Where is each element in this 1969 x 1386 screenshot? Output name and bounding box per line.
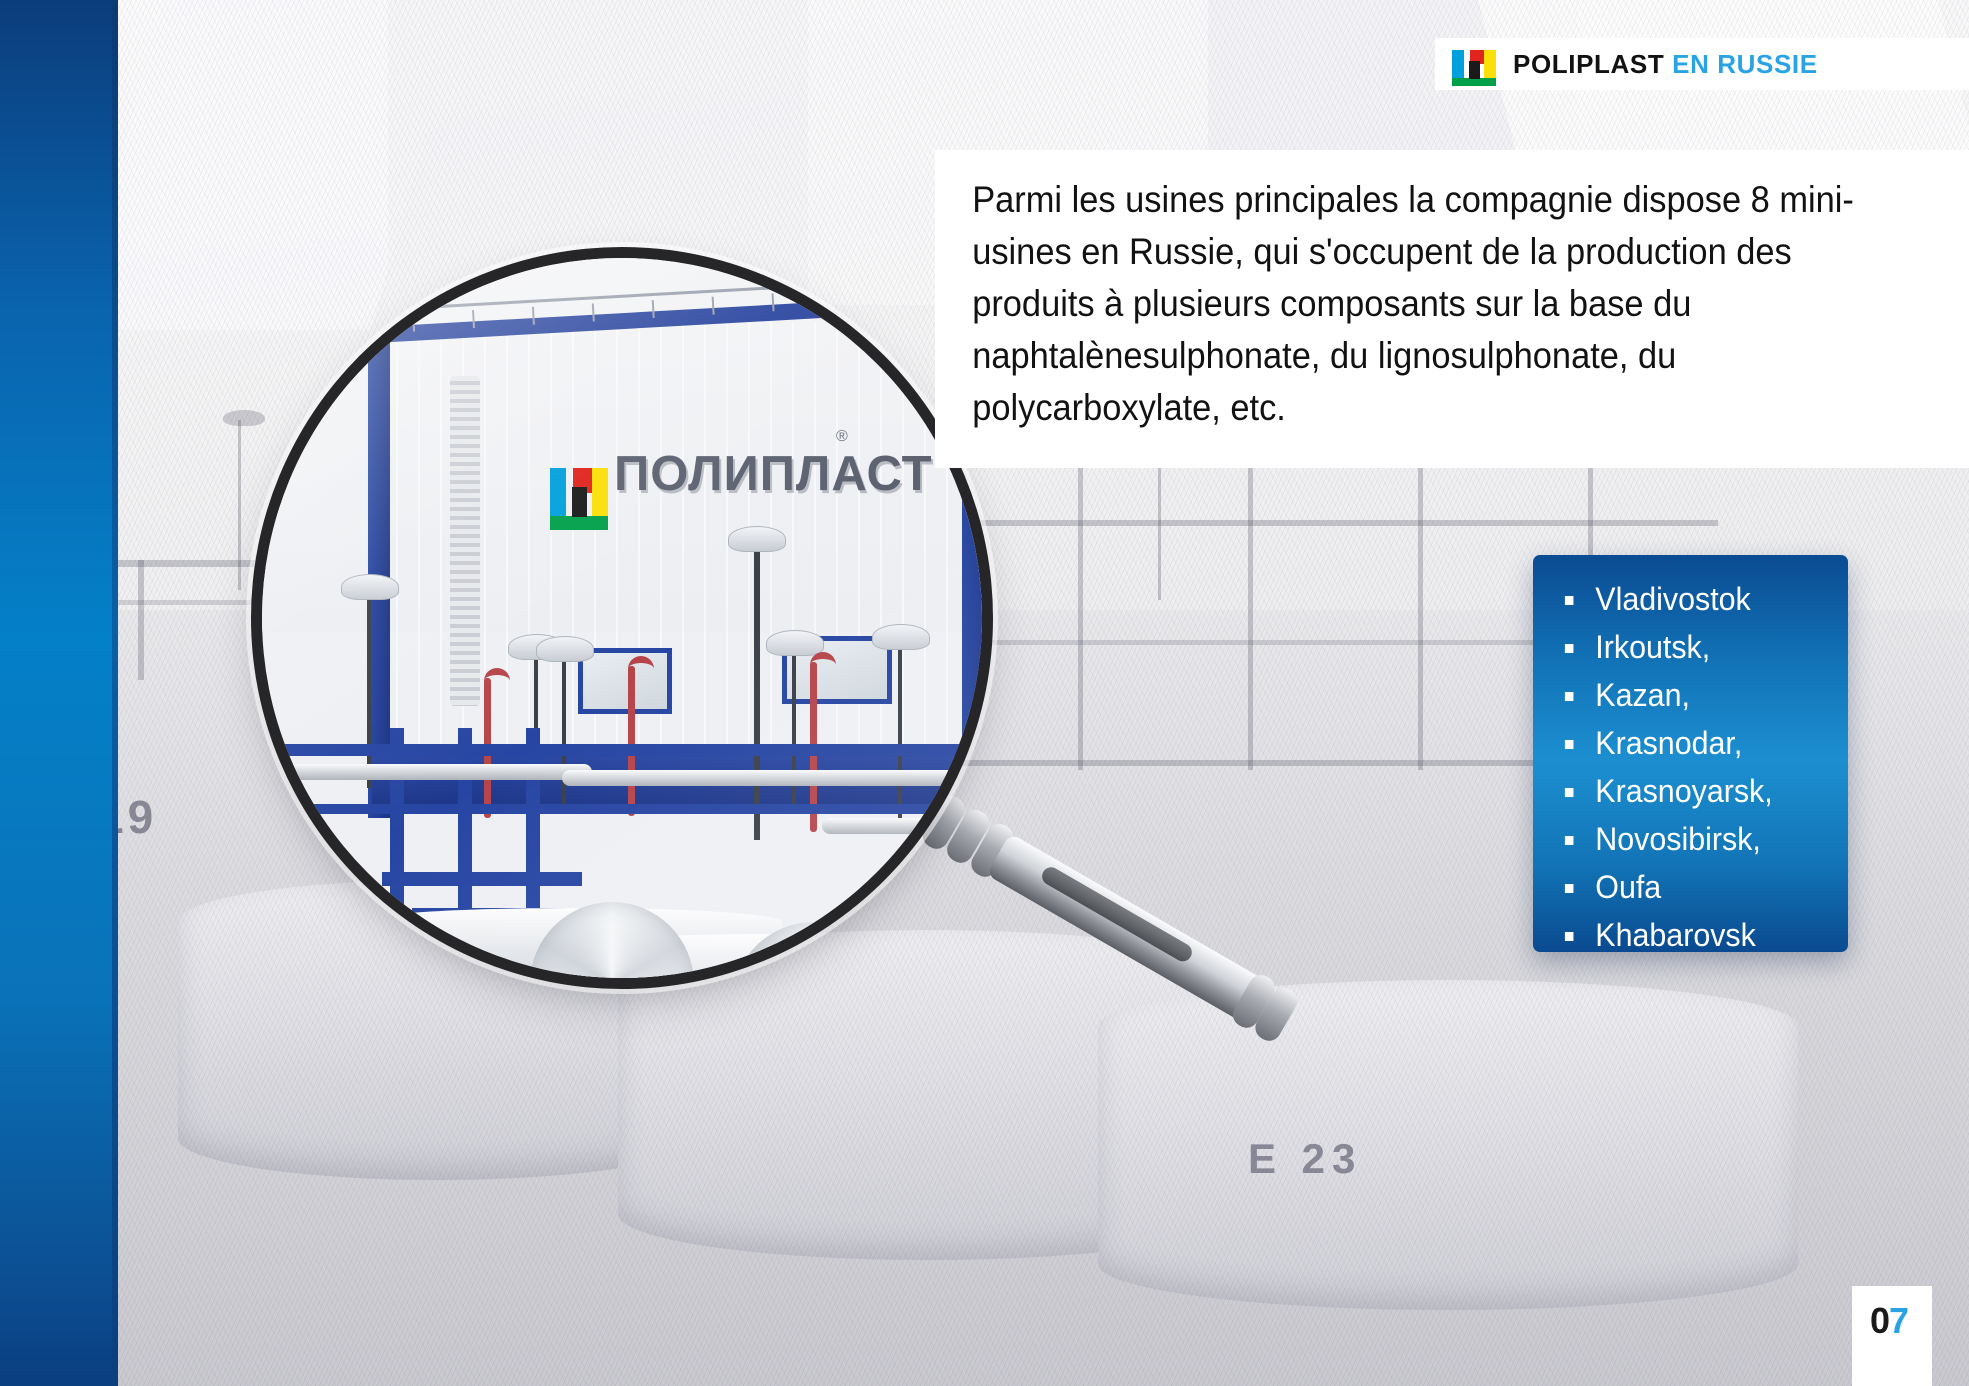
header-title: POLIPLAST EN RUSSIE [1513, 50, 1818, 78]
poliplast-logo-icon [1452, 42, 1496, 86]
page-number-suffix: 7 [1889, 1300, 1908, 1341]
brand-subtitle: EN RUSSIE [1672, 49, 1818, 79]
photo-platform [382, 872, 582, 886]
photo-silver-pipe [562, 770, 982, 786]
list-item: Irkoutsk, [1563, 623, 1834, 671]
page-number-prefix: 0 [1870, 1300, 1889, 1341]
photo-platform [262, 804, 982, 814]
list-item: Oufa [1563, 863, 1834, 911]
magnifier-lens: ПОЛИПЛАСТ ® [262, 258, 982, 978]
list-item: Kazan, [1563, 671, 1834, 719]
photo-platform-post [526, 728, 540, 938]
photo-lamp-post [898, 638, 902, 818]
photo-platform [262, 744, 982, 756]
photo-silver-pipe [262, 764, 592, 780]
photo-red-pipe [628, 666, 635, 816]
description-paragraph: Parmi les usines principales la compagni… [935, 150, 1897, 434]
list-item: Novosibirsk, [1563, 815, 1834, 863]
list-item: Khabarovsk [1563, 911, 1834, 959]
factory-blue-column [368, 318, 390, 818]
factory-sign-logo-icon [550, 454, 608, 530]
magnifier-graphic: ПОЛИПЛАСТ ® [262, 258, 1022, 1018]
description-card: Parmi les usines principales la compagni… [935, 150, 1969, 468]
list-item: Krasnodar, [1563, 719, 1834, 767]
page-number: 07 [1870, 1300, 1908, 1342]
factory-duct [450, 376, 480, 706]
photo-lamp-post [792, 644, 796, 814]
magnified-factory-photo: ПОЛИПЛАСТ ® [262, 258, 982, 978]
photo-platform-post [458, 728, 472, 928]
list-item: Krasnoyarsk, [1563, 767, 1834, 815]
photo-platform-post [390, 728, 404, 928]
factory-sign-text: ПОЛИПЛАСТ [614, 446, 933, 502]
photo-lamp-post [367, 588, 371, 788]
brand-name: POLIPLAST [1513, 49, 1664, 79]
left-accent-bar [0, 0, 118, 1386]
left-accent-bar-edge [112, 0, 118, 1386]
factory-window [578, 648, 672, 714]
factory-sign-registered-mark: ® [836, 428, 848, 446]
cities-card: Vladivostok Irkoutsk, Kazan, Krasnodar, … [1533, 555, 1848, 952]
list-item: Vladivostok [1563, 575, 1834, 623]
photo-tank-label: E 12 [562, 974, 632, 978]
slide-canvas: 19 E 23 [0, 0, 1969, 1386]
photo-silver-pipe [822, 818, 982, 834]
cities-list: Vladivostok Irkoutsk, Kazan, Krasnodar, … [1533, 575, 1848, 959]
photo-lamp-post [754, 540, 760, 840]
